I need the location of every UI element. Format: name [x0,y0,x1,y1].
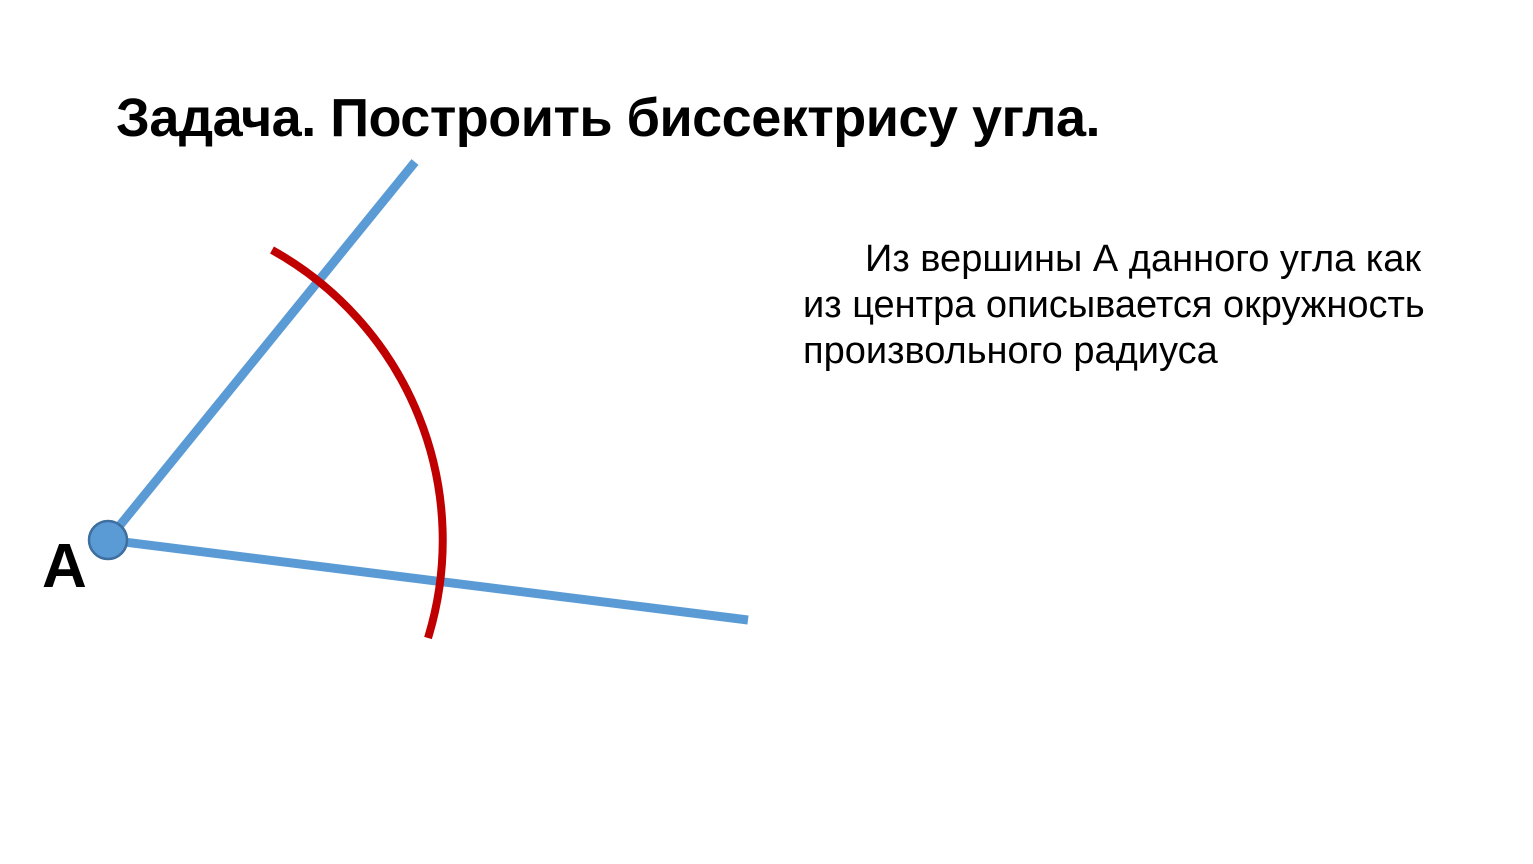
upper-ray-line [108,162,415,540]
vertex-point-a [89,521,127,559]
slide-canvas: Задача. Построить биссектрису угла. А Из… [0,0,1533,864]
lower-ray-line [108,540,748,620]
vertex-label-a: А [42,536,87,598]
angle-bisector-figure [0,0,1533,864]
body-paragraph: Из вершины А данного угла как из центра … [803,236,1443,374]
